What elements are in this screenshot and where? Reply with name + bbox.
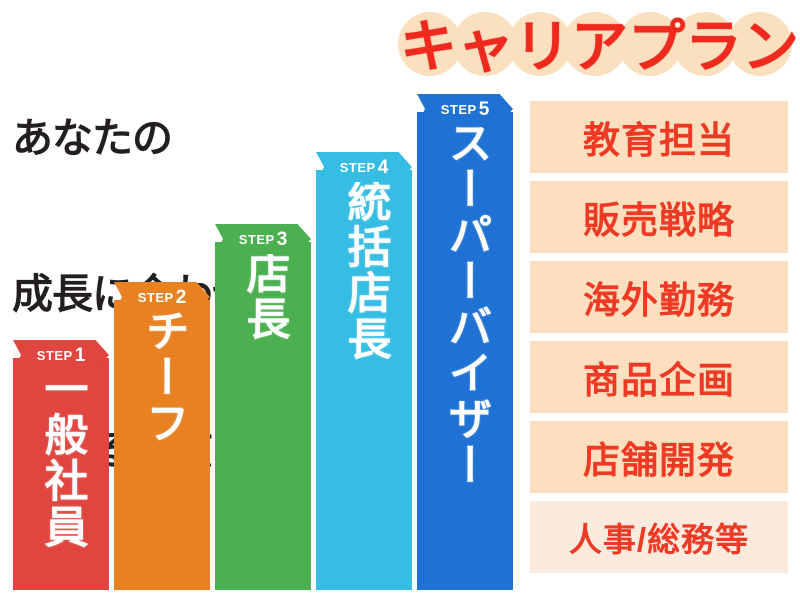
option-item[interactable]: 人事/総務等: [530, 501, 788, 573]
step-position-label: スーパーバイザー: [443, 120, 488, 488]
option-item[interactable]: 商品企画: [530, 341, 788, 413]
page-title: キャリアプラン: [392, 6, 800, 88]
step-bar-4[interactable]: 統括店長: [316, 170, 412, 590]
step-ribbon-label: STEP: [239, 232, 275, 247]
step-ribbon-2: STEP2: [114, 282, 210, 312]
infographic-canvas: あなたの 成長に合わせて 選べる幅広い キャリアプラン 一般社員チーフ店長統括店…: [0, 0, 800, 600]
step-ribbon-label: STEP: [138, 290, 174, 305]
step-ribbon-number: 2: [176, 287, 187, 309]
step-ribbon-number: 5: [479, 99, 490, 121]
step-position-label: 統括店長: [342, 178, 387, 362]
step-bar-fill: 統括店長: [316, 170, 412, 590]
title-block: キャリアプラン: [392, 6, 792, 88]
step-ribbon-number: 3: [277, 229, 288, 251]
step-ribbon-3: STEP3: [215, 224, 311, 254]
option-list: 教育担当販売戦略海外勤務商品企画店舗開発人事/総務等: [530, 101, 788, 581]
step-position-label: チーフ: [140, 308, 185, 446]
step-ribbon-5: STEP5: [417, 94, 513, 124]
step-bar-fill: 店長: [215, 242, 311, 590]
step-bar-fill: チーフ: [114, 300, 210, 590]
option-item[interactable]: 教育担当: [530, 101, 788, 173]
step-bar-fill: スーパーバイザー: [417, 112, 513, 590]
step-ribbon-1: STEP1: [13, 340, 109, 370]
step-bar-5[interactable]: スーパーバイザー: [417, 112, 513, 590]
step-ribbon-number: 4: [378, 157, 389, 179]
step-bar-2[interactable]: チーフ: [114, 300, 210, 590]
step-ribbon-label: STEP: [37, 348, 73, 363]
option-item[interactable]: 海外勤務: [530, 261, 788, 333]
step-position-label: 一般社員: [39, 366, 84, 550]
step-ribbon-4: STEP4: [316, 152, 412, 182]
step-ribbon-label: STEP: [340, 160, 376, 175]
step-ribbon-label: STEP: [441, 102, 477, 117]
step-bar-3[interactable]: 店長: [215, 242, 311, 590]
step-bar-fill: 一般社員: [13, 358, 109, 590]
option-item[interactable]: 販売戦略: [530, 181, 788, 253]
step-bar-1[interactable]: 一般社員: [13, 358, 109, 590]
step-position-label: 店長: [241, 250, 286, 342]
option-item[interactable]: 店舗開発: [530, 421, 788, 493]
step-ribbon-number: 1: [75, 345, 86, 367]
